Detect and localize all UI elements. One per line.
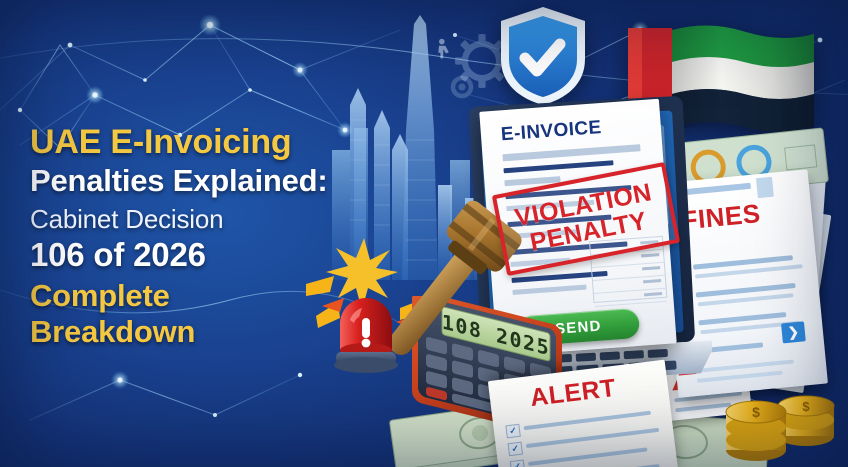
alert-title: ALERT — [529, 374, 618, 413]
shield-check-icon — [495, 4, 591, 108]
coin-symbol: $ — [752, 404, 760, 420]
people-icon — [432, 36, 460, 64]
alert-line — [528, 447, 648, 466]
headline-block: UAE E-Invoicing Penalties Explained: Cab… — [30, 125, 390, 349]
alert-line — [524, 411, 652, 431]
fines-header-line — [756, 177, 774, 198]
coin-symbol: $ — [802, 399, 810, 414]
headline-line-4: 106 of 2026 — [30, 237, 390, 273]
alert-checkbox[interactable]: ✓ — [505, 424, 520, 439]
invoice-line — [502, 144, 640, 161]
invoice-title: E-INVOICE — [500, 117, 602, 146]
uae-einvoicing-penalties-banner: E-INVOICE SEND VIOLATION PENALTY FINES $ — [0, 0, 848, 467]
invoice-line — [503, 160, 613, 173]
coin-stack-icon: $ $ — [722, 372, 842, 467]
headline-line-2: Penalties Explained: — [30, 164, 390, 199]
headline-line-3: Cabinet Decision — [30, 204, 390, 235]
headline-line-1: UAE E-Invoicing — [30, 125, 390, 161]
submit-arrow-icon[interactable]: ❯ — [781, 321, 806, 343]
alert-checkbox[interactable]: ✓ — [510, 459, 525, 467]
headline-line-5: Complete — [30, 279, 390, 313]
alert-line — [526, 428, 659, 448]
headline-line-6: Breakdown — [30, 315, 390, 349]
alert-checkbox[interactable]: ✓ — [508, 442, 523, 457]
